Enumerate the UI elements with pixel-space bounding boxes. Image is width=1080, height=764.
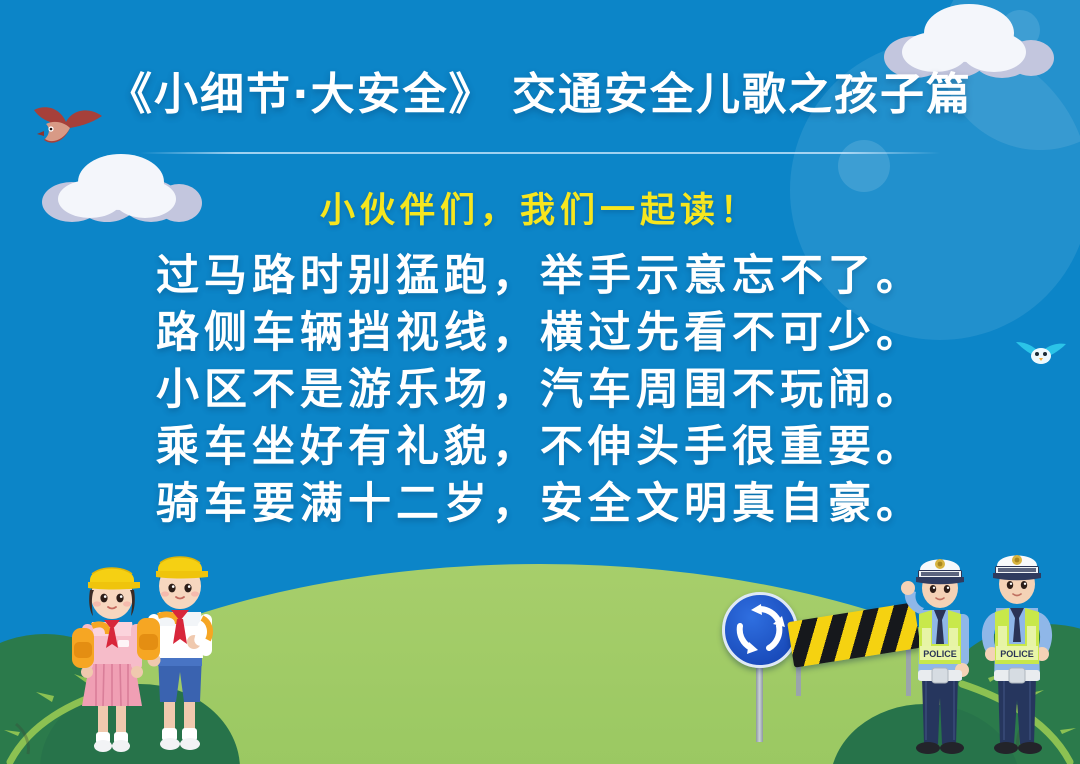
verse-line: 过马路时别猛跑，举手示意忘不了。 (0, 248, 1080, 305)
vest-police-text: POLICE (923, 649, 957, 659)
police-officer-standing: POLICE (966, 542, 1066, 764)
poster-canvas: 《小细节·大安全》 交通安全儿歌之孩子篇 小伙伴们，我们一起读！ 过马路时别猛跑… (0, 0, 1080, 764)
page-subtitle: 小伙伴们，我们一起读！ (0, 182, 1080, 233)
verse-line: 路侧车辆挡视线，横过先看不可少。 (0, 305, 1080, 362)
student-boy (128, 546, 232, 758)
sign-pole (756, 666, 763, 742)
roundabout-arrows-icon (725, 595, 795, 665)
verse-block: 过马路时别猛跑，举手示意忘不了。 路侧车辆挡视线，横过先看不可少。 小区不是游乐… (0, 248, 1080, 533)
verse-line: 骑车要满十二岁，安全文明真自豪。 (0, 476, 1080, 533)
page-title: 《小细节·大安全》 交通安全儿歌之孩子篇 (0, 58, 1080, 122)
title-divider (140, 152, 940, 154)
verse-line: 乘车坐好有礼貌，不伸头手很重要。 (0, 419, 1080, 476)
vest-police-text: POLICE (1000, 649, 1034, 659)
sign-disc (722, 592, 798, 668)
verse-line: 小区不是游乐场，汽车周围不玩闹。 (0, 362, 1080, 419)
